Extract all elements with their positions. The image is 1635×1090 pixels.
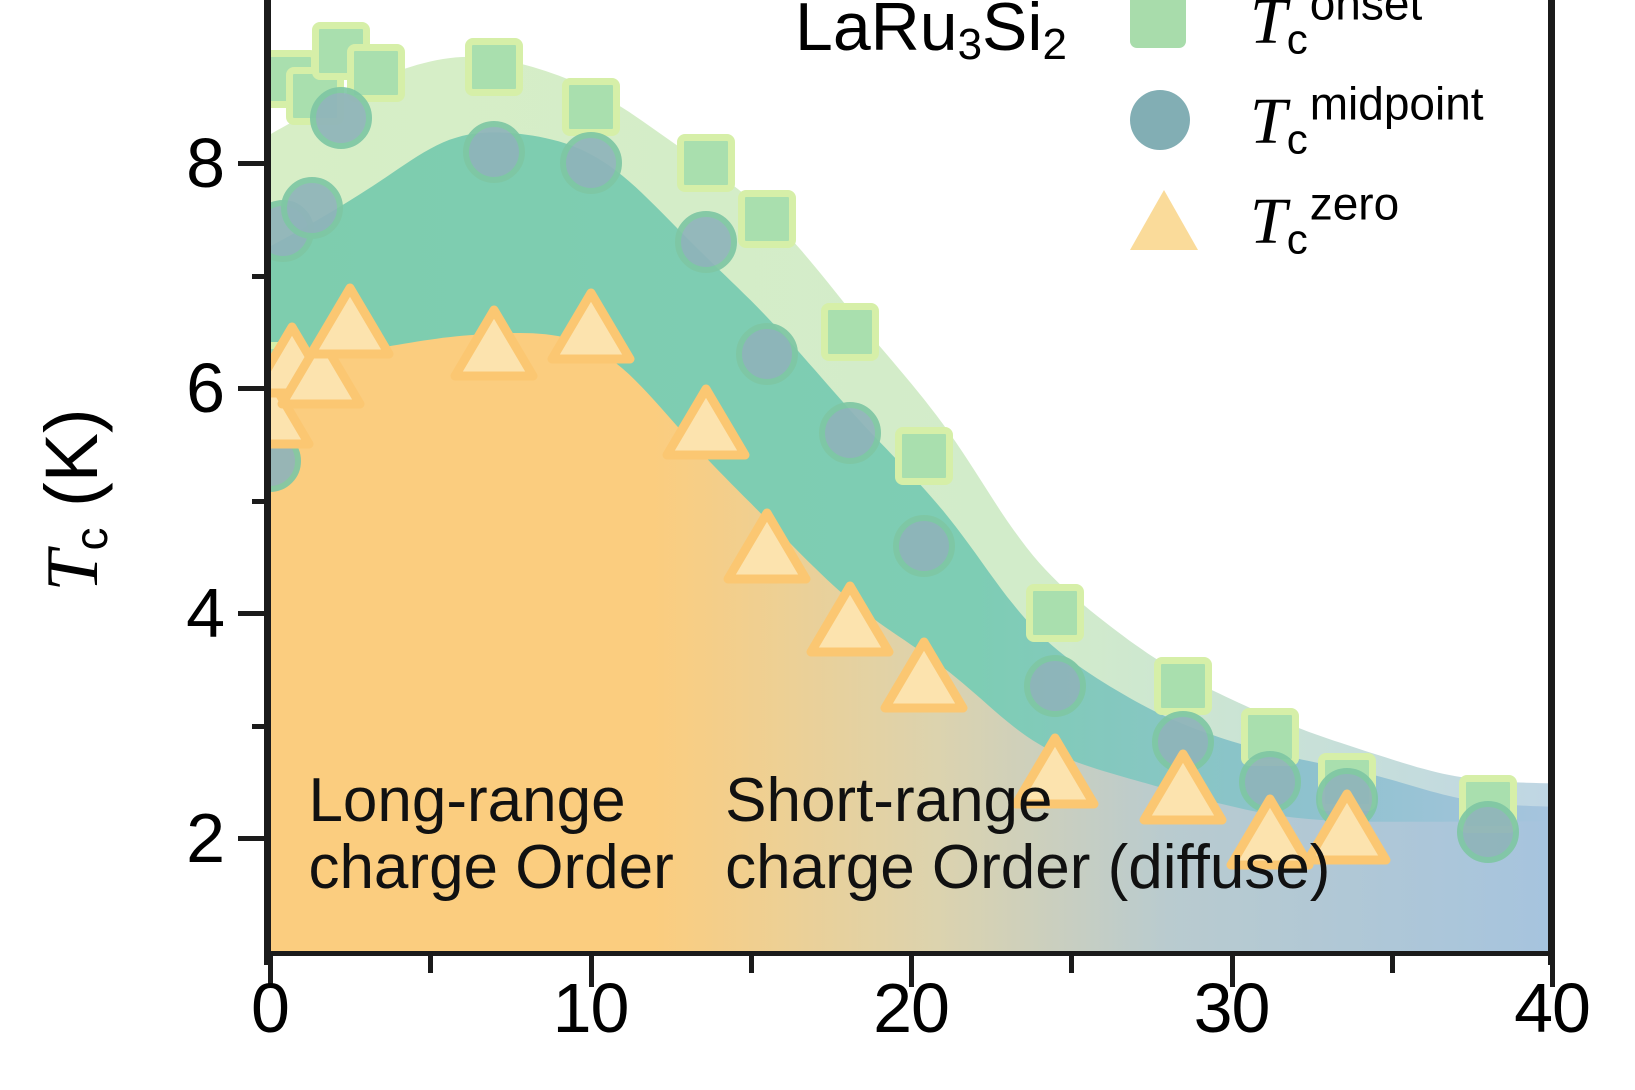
compound-formula: LaRu3Si2 [795, 0, 1067, 70]
legend-entry-zero[interactable]: Tczero [1130, 170, 1630, 270]
legend-label-onset: Tconset [1250, 0, 1422, 64]
x-tick-label-20: 20 [873, 968, 949, 1048]
data-point-midpoint [819, 402, 881, 464]
data-point-onset [562, 78, 620, 136]
formula-subscript-1: 3 [958, 20, 982, 69]
data-point-midpoint [1024, 655, 1086, 717]
data-point-onset [1154, 657, 1212, 715]
figure-canvas: Long-rangecharge Order Short-rangecharge… [0, 0, 1635, 1090]
legend: Tconset Tcmidpoint Tczero [1130, 0, 1630, 270]
data-point-midpoint [560, 132, 622, 194]
y-tick-label-8: 8 [130, 123, 225, 203]
data-point-onset [821, 303, 879, 361]
y-tick-label-2: 2 [130, 798, 225, 878]
y-axis-title-symbol: T [32, 551, 114, 592]
data-point-midpoint [281, 177, 343, 239]
y-tick-minor-7 [252, 274, 270, 279]
data-point-zero [548, 289, 634, 363]
long-range-region-label-line-1: Long-range [308, 768, 673, 835]
x-tick-minor-25 [1069, 955, 1074, 973]
y-axis-title-unit: (K) [30, 408, 113, 527]
y-axis-title: Tc (K) [29, 408, 118, 591]
data-point-midpoint [463, 121, 525, 183]
data-point-onset [738, 190, 796, 248]
y-axis-spine [264, 0, 271, 965]
x-tick-minor-5 [428, 955, 433, 973]
data-point-midpoint [675, 211, 737, 273]
data-point-midpoint [310, 87, 372, 149]
formula-part-2: Si [982, 0, 1042, 65]
long-range-region-label: Long-rangecharge Order [308, 768, 673, 902]
y-tick-major-4 [238, 611, 270, 616]
x-tick-minor-35 [1390, 955, 1395, 973]
x-tick-label-10: 10 [553, 968, 629, 1048]
y-tick-label-4: 4 [130, 573, 225, 653]
y-tick-major-6 [238, 386, 270, 391]
short-range-region-label-line-1: Short-range [725, 768, 1330, 835]
data-point-onset [677, 134, 735, 192]
triangle-marker-icon [1130, 190, 1198, 250]
data-point-zero [881, 638, 967, 712]
formula-part-1: LaRu [795, 0, 958, 65]
y-tick-label-6: 6 [130, 348, 225, 428]
data-point-zero [451, 306, 537, 380]
x-tick-label-30: 30 [1194, 968, 1270, 1048]
legend-entry-midpoint[interactable]: Tcmidpoint [1130, 70, 1630, 170]
legend-entry-onset[interactable]: Tconset [1130, 0, 1630, 70]
legend-label-zero: Tczero [1250, 176, 1399, 263]
x-tick-label-0: 0 [251, 968, 289, 1048]
data-point-onset [1026, 584, 1084, 642]
y-tick-major-2 [238, 836, 270, 841]
data-point-zero [307, 284, 393, 358]
x-tick-minor-15 [749, 955, 754, 973]
data-point-midpoint [893, 515, 955, 577]
short-range-region-label: Short-rangecharge Order (diffuse) [725, 768, 1330, 902]
data-point-onset [895, 427, 953, 485]
legend-label-midpoint: Tcmidpoint [1250, 76, 1484, 163]
data-point-onset [465, 38, 523, 96]
data-point-zero [724, 509, 810, 583]
data-point-midpoint [736, 323, 798, 385]
data-point-zero [663, 385, 749, 459]
short-range-region-label-line-2: charge Order (diffuse) [725, 835, 1330, 902]
x-tick-label-40: 40 [1514, 968, 1590, 1048]
formula-subscript-2: 2 [1043, 20, 1067, 69]
y-tick-minor-3 [252, 724, 270, 729]
y-axis-title-subscript: c [65, 528, 117, 551]
y-tick-major-8 [238, 161, 270, 166]
long-range-region-label-line-2: charge Order [308, 835, 673, 902]
circle-marker-icon [1130, 90, 1190, 150]
square-marker-icon [1130, 0, 1186, 48]
data-point-midpoint [1457, 801, 1519, 863]
y-tick-minor-5 [252, 499, 270, 504]
